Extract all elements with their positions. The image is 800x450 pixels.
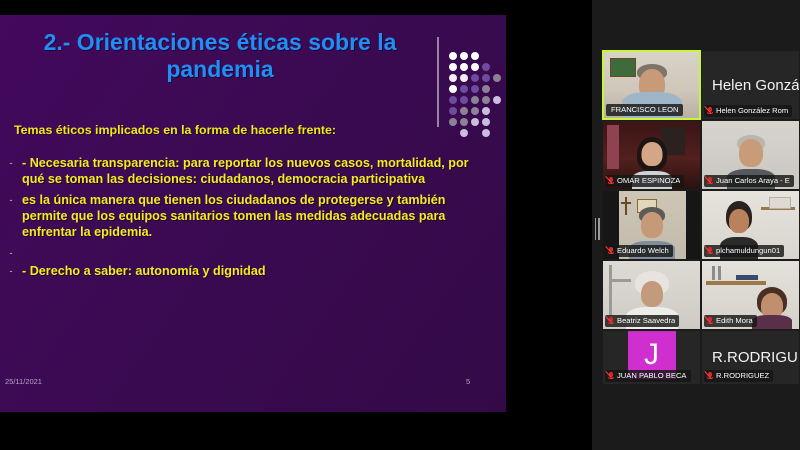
logo-dot xyxy=(458,96,469,107)
logo-dot xyxy=(491,63,502,74)
bullet-text: es la única manera que tienen los ciudad… xyxy=(22,192,506,241)
logo-dot xyxy=(458,41,469,52)
participant-grid: FRANCISCO LEONHelen Gonzál.Helen Gonzále… xyxy=(602,50,800,385)
participant-nameplate: Edith Mora xyxy=(704,315,757,327)
microphone-muted-icon xyxy=(607,317,614,326)
slide-divider-line xyxy=(437,37,439,127)
participant-tile[interactable]: Helen Gonzál.Helen González Rom xyxy=(701,50,800,120)
participant-nameplate: Juan Carlos Araya - E xyxy=(704,175,794,187)
logo-dot xyxy=(458,85,469,96)
logo-dot xyxy=(480,41,491,52)
logo-dot xyxy=(447,107,458,118)
participant-tile[interactable]: JJUAN PABLO BECA xyxy=(602,330,701,385)
logo-dot xyxy=(480,96,491,107)
presentation-slide: 2.- Orientaciones éticas sobre la pandem… xyxy=(0,15,506,412)
bullet-dash-marker: - xyxy=(0,192,22,241)
slide-footer-date: 25/11/2021 xyxy=(5,377,42,386)
dot-grid-logo xyxy=(447,41,502,129)
participant-name: Helen González Rom xyxy=(716,106,788,116)
logo-dot xyxy=(458,63,469,74)
participant-name: plchamuldungun01 xyxy=(716,246,780,256)
microphone-muted-icon xyxy=(607,372,614,381)
slide-bullet-item: -- Necesaria transparencia: para reporta… xyxy=(0,155,506,188)
participant-tile[interactable]: FRANCISCO LEON xyxy=(602,50,701,120)
microphone-muted-icon xyxy=(706,317,713,326)
logo-dot xyxy=(491,96,502,107)
logo-dot xyxy=(480,74,491,85)
slide-bullet-list: -- Necesaria transparencia: para reporta… xyxy=(0,155,506,284)
participant-row: FRANCISCO LEONHelen Gonzál.Helen Gonzále… xyxy=(602,50,800,120)
logo-dot xyxy=(469,107,480,118)
logo-dot xyxy=(480,85,491,96)
resize-grip-icon[interactable] xyxy=(594,218,600,240)
participant-nameplate: R.RODRIGUEZ xyxy=(704,370,773,382)
logo-dot xyxy=(469,96,480,107)
participant-row: Eduardo Welch plchamuldungun01 xyxy=(602,190,800,260)
zoom-meeting-window: 2.- Orientaciones éticas sobre la pandem… xyxy=(0,0,800,450)
participant-name: JUAN PABLO BECA xyxy=(617,371,687,381)
shared-screen-stage: 2.- Orientaciones éticas sobre la pandem… xyxy=(0,0,602,450)
participant-name: R.RODRIGUEZ xyxy=(716,371,769,381)
microphone-muted-icon xyxy=(706,177,713,186)
participant-tile[interactable]: R.RODRIGUEZR.RODRIGUEZ xyxy=(701,330,800,385)
slide-bullet-item: -- Derecho a saber: autonomía y dignidad xyxy=(0,263,506,280)
logo-dot xyxy=(447,74,458,85)
participant-nameplate: Beatriz Saavedra xyxy=(605,315,679,327)
logo-dot xyxy=(458,74,469,85)
logo-dot xyxy=(480,52,491,63)
microphone-muted-icon xyxy=(607,247,614,256)
logo-dot xyxy=(447,63,458,74)
logo-dot xyxy=(491,52,502,63)
logo-dot xyxy=(447,41,458,52)
participant-name: OMAR ESPINOZA xyxy=(617,176,680,186)
logo-dot xyxy=(469,85,480,96)
participant-name: Edith Mora xyxy=(716,316,753,326)
participant-name: FRANCISCO LEON xyxy=(611,105,679,115)
slide-title: 2.- Orientaciones éticas sobre la pandem… xyxy=(10,29,430,83)
participant-tile[interactable]: Edith Mora xyxy=(701,260,800,330)
logo-dot xyxy=(469,63,480,74)
logo-dot xyxy=(458,107,469,118)
bullet-text xyxy=(22,245,506,257)
bullet-dash-marker: - xyxy=(0,245,22,259)
logo-dot xyxy=(491,41,502,52)
logo-dot xyxy=(447,85,458,96)
logo-dot xyxy=(491,74,502,85)
logo-dot xyxy=(458,52,469,63)
participant-nameplate: Helen González Rom xyxy=(704,105,792,117)
microphone-muted-icon xyxy=(706,107,713,116)
participant-tile[interactable]: Beatriz Saavedra xyxy=(602,260,701,330)
slide-bullet-item: -es la única manera que tienen los ciuda… xyxy=(0,192,506,241)
logo-dot xyxy=(491,118,502,129)
slide-footer-page-number: 5 xyxy=(466,377,470,386)
logo-dot xyxy=(491,85,502,96)
participant-nameplate: plchamuldungun01 xyxy=(704,245,784,257)
participant-nameplate: Eduardo Welch xyxy=(605,245,673,257)
bullet-dash-marker: - xyxy=(0,155,22,188)
microphone-muted-icon xyxy=(706,372,713,381)
participant-row: Beatriz Saavedra Edith Mora xyxy=(602,260,800,330)
bullet-text: - Necesaria transparencia: para reportar… xyxy=(22,155,506,188)
logo-dot xyxy=(480,63,491,74)
microphone-muted-icon xyxy=(607,177,614,186)
microphone-muted-icon xyxy=(706,247,713,256)
panel-resize-handle[interactable] xyxy=(592,0,602,450)
participant-nameplate: FRANCISCO LEON xyxy=(606,104,683,116)
logo-dot xyxy=(469,74,480,85)
participant-nameplate: OMAR ESPINOZA xyxy=(605,175,684,187)
participant-nameplate: JUAN PABLO BECA xyxy=(605,370,691,382)
bullet-dash-marker: - xyxy=(0,263,22,280)
participant-tile[interactable]: Juan Carlos Araya - E xyxy=(701,120,800,190)
logo-dot xyxy=(469,41,480,52)
participants-panel: FRANCISCO LEONHelen Gonzál.Helen Gonzále… xyxy=(602,0,800,450)
participant-row: JJUAN PABLO BECAR.RODRIGUEZR.RODRIGUEZ xyxy=(602,330,800,385)
logo-dot xyxy=(491,107,502,118)
bullet-text: - Derecho a saber: autonomía y dignidad xyxy=(22,263,506,280)
logo-dot xyxy=(469,52,480,63)
slide-bullet-item: - xyxy=(0,245,506,259)
logo-dot xyxy=(447,52,458,63)
participant-row: OMAR ESPINOZA Juan Carlos Araya - E xyxy=(602,120,800,190)
participant-tile[interactable]: plchamuldungun01 xyxy=(701,190,800,260)
logo-dot xyxy=(447,96,458,107)
logo-dot xyxy=(480,107,491,118)
participant-tile[interactable]: OMAR ESPINOZA xyxy=(602,120,701,190)
participant-name: Juan Carlos Araya - E xyxy=(716,176,790,186)
slide-subtitle: Temas éticos implicados en la forma de h… xyxy=(14,123,484,137)
participant-name: Eduardo Welch xyxy=(617,246,669,256)
participant-tile[interactable]: Eduardo Welch xyxy=(602,190,701,260)
participant-name: Beatriz Saavedra xyxy=(617,316,675,326)
